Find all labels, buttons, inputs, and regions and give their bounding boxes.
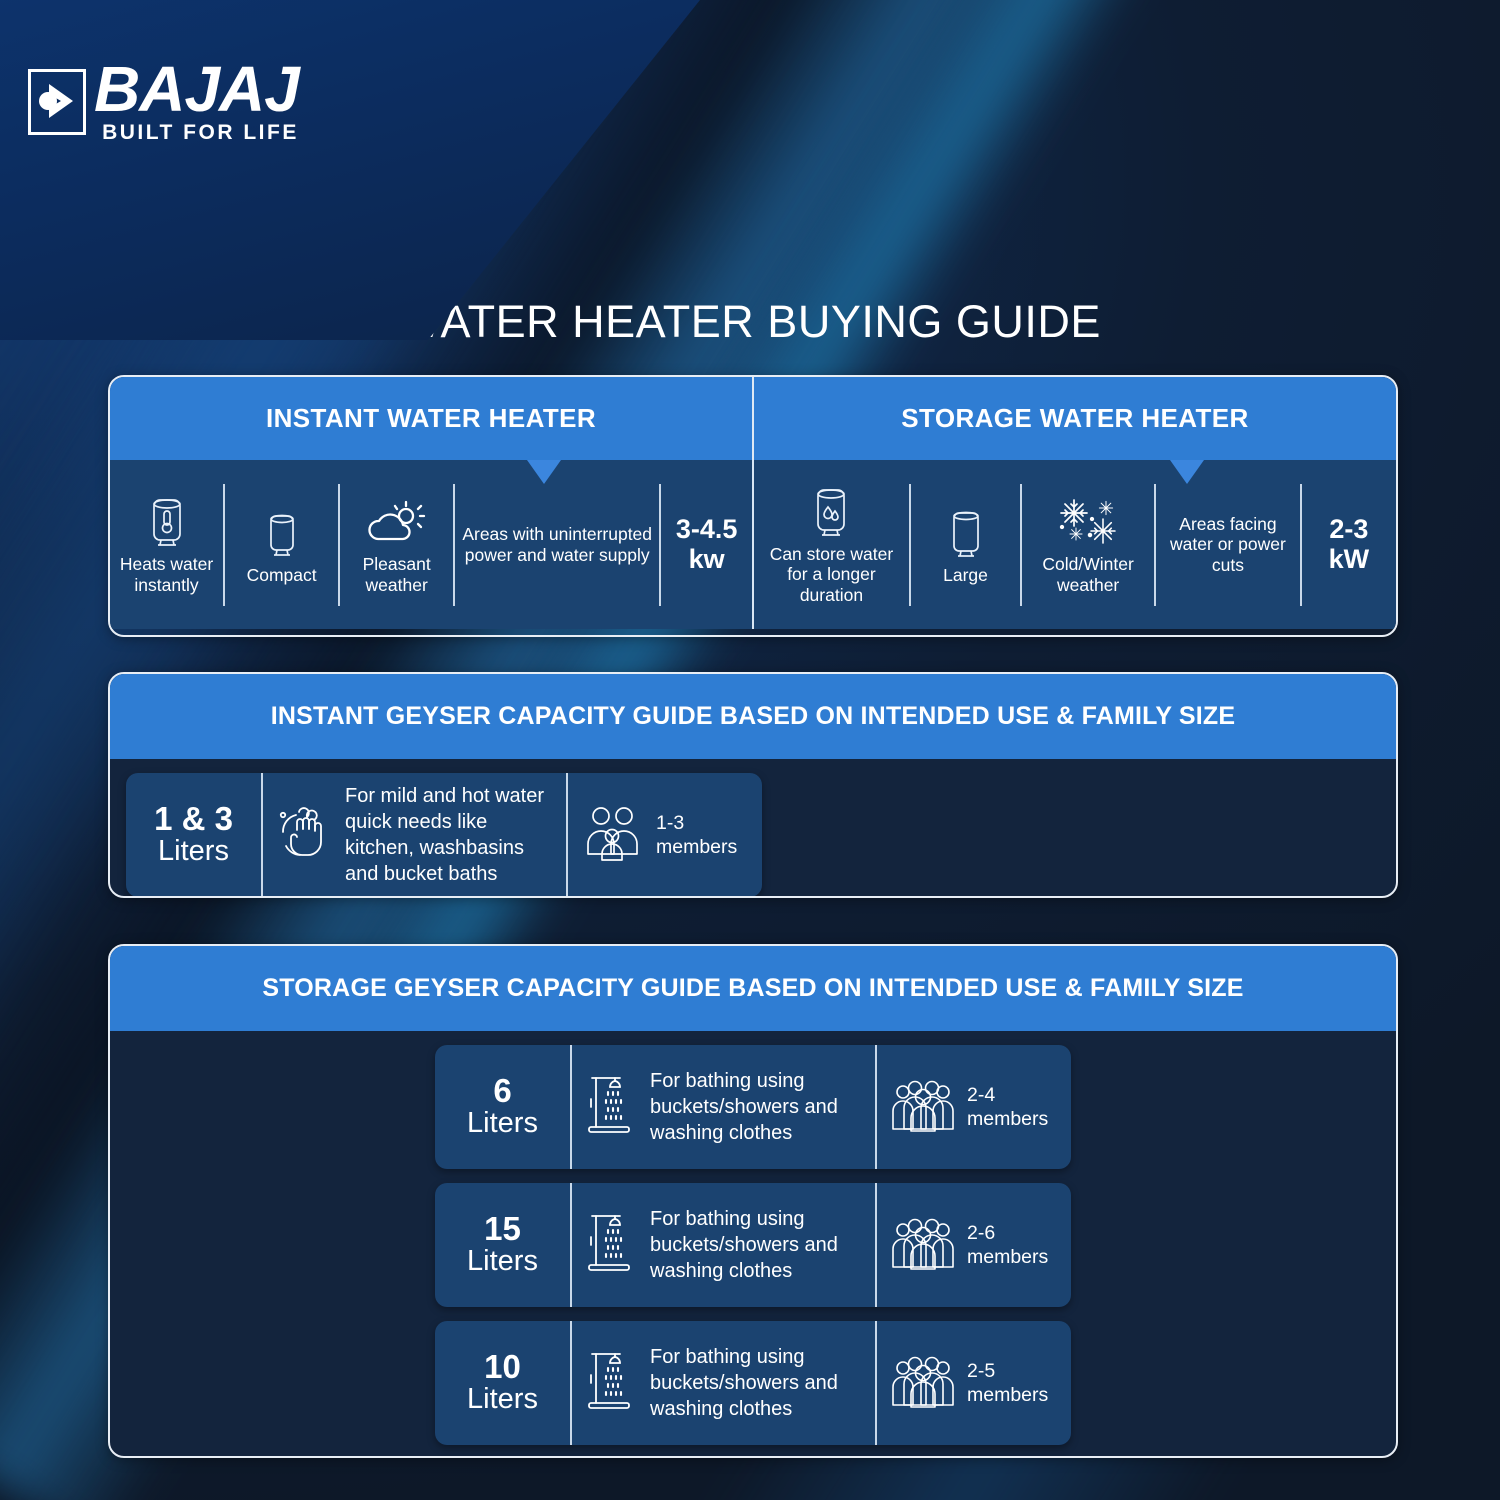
feature-label: Can store water for a longer duration — [760, 544, 903, 606]
power-rating-value: 2-3 kW — [1308, 515, 1390, 574]
water-heater-droplet-icon — [812, 484, 850, 539]
comparison-header-row: INSTANT WATER HEATER STORAGE WATER HEATE… — [110, 377, 1396, 460]
instant-pointer-arrow — [527, 460, 561, 484]
instant-capacity-panel: INSTANT GEYSER CAPACITY GUIDE BASED ON I… — [108, 672, 1398, 898]
instant-capacity-heading: INSTANT GEYSER CAPACITY GUIDE BASED ON I… — [110, 674, 1396, 759]
feature-label: Compact — [247, 565, 317, 586]
feature-label: Heats water instantly — [116, 554, 217, 595]
liters-segment: 15 Liters — [435, 1183, 570, 1307]
usage-segment: For mild and hot water quick needs like … — [261, 773, 566, 897]
liters-segment: 1 & 3 Liters — [126, 773, 261, 897]
instant-capacity-rows: 1 & 3 Liters For mild and — [110, 759, 1396, 898]
feature-label: Areas with uninterrupted power and water… — [461, 524, 653, 565]
feature-heats-water-instantly: Heats water instantly — [110, 484, 223, 606]
members-segment: 2-5 members — [875, 1321, 1071, 1445]
liters-unit: Liters — [158, 836, 229, 868]
usage-text: For bathing using buckets/showers and wa… — [650, 1206, 861, 1284]
capacity-card-6-liters[interactable]: 6 Liters — [435, 1045, 1071, 1169]
storage-water-heater-title: STORAGE WATER HEATER — [752, 377, 1396, 460]
feature-compact: Compact — [223, 484, 338, 606]
shower-icon — [586, 1349, 636, 1418]
liters-value: 10 — [484, 1350, 521, 1384]
liters-value: 1 & 3 — [154, 802, 233, 836]
compact-tank-icon — [265, 504, 299, 560]
family-group-icon — [891, 1353, 955, 1414]
usage-segment: For bathing using buckets/showers and wa… — [570, 1045, 875, 1169]
members-text: 2-6 members — [967, 1221, 1057, 1270]
bajaj-logo: BAJAJ BUILT FOR LIFE — [28, 60, 299, 145]
usage-text: For bathing using buckets/showers and wa… — [650, 1344, 861, 1422]
feature-label: Large — [943, 565, 988, 586]
liters-unit: Liters — [467, 1246, 538, 1278]
liters-value: 6 — [493, 1074, 511, 1108]
feature-large: Large — [909, 484, 1020, 606]
feature-storage-power-rating: 2-3 kW — [1300, 484, 1396, 606]
storage-capacity-rows: 6 Liters — [110, 1031, 1396, 1458]
storage-capacity-panel: STORAGE GEYSER CAPACITY GUIDE BASED ON I… — [108, 944, 1398, 1458]
bajaj-arrow-logo-icon — [28, 69, 86, 135]
feature-label: Cold/Winter weather — [1028, 554, 1148, 595]
sun-cloud-icon — [368, 493, 426, 549]
snowflake-icon — [1054, 493, 1122, 549]
family-group-icon — [891, 1215, 955, 1276]
capacity-card-15-liters[interactable]: 15 Liters — [435, 1183, 1071, 1307]
storage-pointer-arrow — [1170, 460, 1204, 484]
brand-name: BAJAJ — [94, 60, 299, 119]
comparison-body: Heats water instantly Compact — [110, 460, 1396, 629]
members-text: 1-3 members — [656, 811, 748, 860]
water-heater-thermometer-icon — [148, 493, 186, 549]
usage-segment: For bathing using buckets/showers and wa… — [570, 1183, 875, 1307]
feature-pleasant-weather: Pleasant weather — [338, 484, 453, 606]
power-rating-value: 3-4.5 kw — [667, 515, 746, 574]
feature-areas-power-supply: Areas with uninterrupted power and water… — [453, 484, 659, 606]
usage-text: For bathing using buckets/showers and wa… — [650, 1068, 861, 1146]
chevron-graphic — [0, 0, 760, 340]
chevron-dark-shape — [0, 0, 700, 340]
members-text: 2-5 members — [967, 1359, 1057, 1408]
family-group-icon — [891, 1077, 955, 1138]
liters-segment: 6 Liters — [435, 1045, 570, 1169]
members-text: 2-4 members — [967, 1083, 1057, 1132]
family-three-icon — [582, 804, 644, 867]
members-segment: 2-6 members — [875, 1183, 1071, 1307]
liters-unit: Liters — [467, 1384, 538, 1416]
hand-washing-icon — [277, 802, 331, 869]
storage-capacity-heading: STORAGE GEYSER CAPACITY GUIDE BASED ON I… — [110, 946, 1396, 1031]
members-segment: 2-4 members — [875, 1045, 1071, 1169]
members-segment: 1-3 members — [566, 773, 762, 897]
liters-unit: Liters — [467, 1108, 538, 1140]
capacity-card-10-liters[interactable]: 10 Liters — [435, 1321, 1071, 1445]
large-tank-icon — [949, 504, 983, 560]
bajaj-wordmark: BAJAJ BUILT FOR LIFE — [94, 60, 299, 145]
comparison-panel: INSTANT WATER HEATER STORAGE WATER HEATE… — [108, 375, 1398, 637]
instant-features: Heats water instantly Compact — [110, 460, 752, 629]
capacity-card-1-and-3-liters[interactable]: 1 & 3 Liters For mild and — [126, 773, 762, 897]
usage-segment: For bathing using buckets/showers and wa… — [570, 1321, 875, 1445]
shower-icon — [586, 1073, 636, 1142]
brand-tagline: BUILT FOR LIFE — [94, 121, 299, 145]
feature-instant-power-rating: 3-4.5 kw — [659, 484, 752, 606]
feature-label: Pleasant weather — [346, 554, 447, 595]
instant-water-heater-title: INSTANT WATER HEATER — [110, 377, 752, 460]
feature-store-water-longer: Can store water for a longer duration — [754, 484, 909, 606]
storage-features: Can store water for a longer duration La… — [752, 460, 1396, 629]
usage-text: For mild and hot water quick needs like … — [345, 783, 552, 887]
liters-value: 15 — [484, 1212, 521, 1246]
hero-banner — [0, 0, 1500, 330]
liters-segment: 10 Liters — [435, 1321, 570, 1445]
feature-label: Areas facing water or power cuts — [1162, 514, 1294, 576]
feature-areas-water-power-cuts: Areas facing water or power cuts — [1154, 484, 1300, 606]
feature-cold-winter-weather: Cold/Winter weather — [1020, 484, 1154, 606]
shower-icon — [586, 1211, 636, 1280]
